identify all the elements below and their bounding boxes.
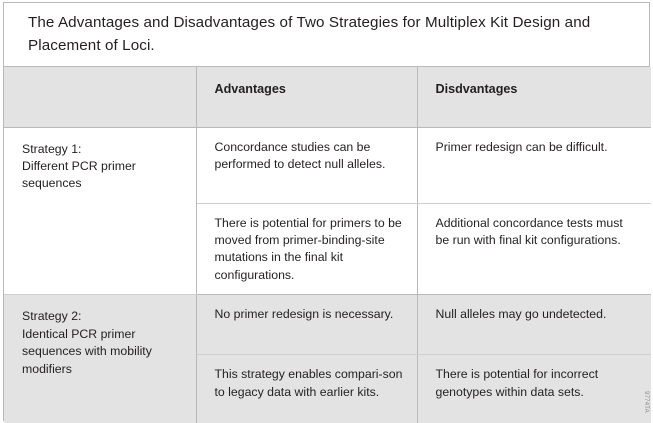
- strategy-1-disadvantage-1: Primer redesign can be difficult.: [417, 127, 651, 203]
- strategy-1-desc-line-1: Different PCR primer: [22, 158, 182, 175]
- strategy-2-disadvantage-1: Null alleles may go undetected.: [417, 295, 651, 355]
- header-cell-strategy: [4, 67, 196, 127]
- figure-title-bar: The Advantages and Disadvantages of Two …: [4, 3, 649, 67]
- table-frame: The Advantages and Disadvantages of Two …: [3, 2, 650, 421]
- strategy-1-disadvantage-2: Additional concordance tests must be run…: [417, 203, 651, 295]
- strategy-2-disadvantage-2: There is potential for incorrect genotyp…: [417, 355, 651, 423]
- header-cell-disadvantages: Disdvantages: [417, 67, 651, 127]
- strategy-1-advantage-2: There is potential for primers to be mov…: [196, 203, 417, 295]
- strategy-1-desc-line-2: sequences: [22, 175, 182, 192]
- strategy-1-advantage-1: Concordance studies can be performed to …: [196, 127, 417, 203]
- table-row: Strategy 2: Identical PCR primer sequenc…: [4, 295, 651, 355]
- strategy-2-advantage-1: No primer redesign is necessary.: [196, 295, 417, 355]
- strategy-2-title: Strategy 2:: [22, 308, 182, 325]
- strategy-2-desc-line-2: sequences with mobility modifiers: [22, 343, 182, 378]
- strategy-2-label-cell: Strategy 2: Identical PCR primer sequenc…: [4, 295, 196, 423]
- strategy-1-title: Strategy 1:: [22, 141, 182, 158]
- header-cell-advantages: Advantages: [196, 67, 417, 127]
- strategy-2-desc-line-1: Identical PCR primer: [22, 326, 182, 343]
- table-header-row: Advantages Disdvantages: [4, 67, 651, 127]
- strategy-1-label-cell: Strategy 1: Different PCR primer sequenc…: [4, 127, 196, 295]
- table-row: Strategy 1: Different PCR primer sequenc…: [4, 127, 651, 203]
- figure-table-container: The Advantages and Disadvantages of Two …: [0, 0, 653, 423]
- strategy-2-advantage-2: This strategy enables compari-son to leg…: [196, 355, 417, 423]
- figure-title: The Advantages and Disadvantages of Two …: [4, 12, 649, 56]
- comparison-table: Advantages Disdvantages Strategy 1: Diff…: [4, 67, 651, 423]
